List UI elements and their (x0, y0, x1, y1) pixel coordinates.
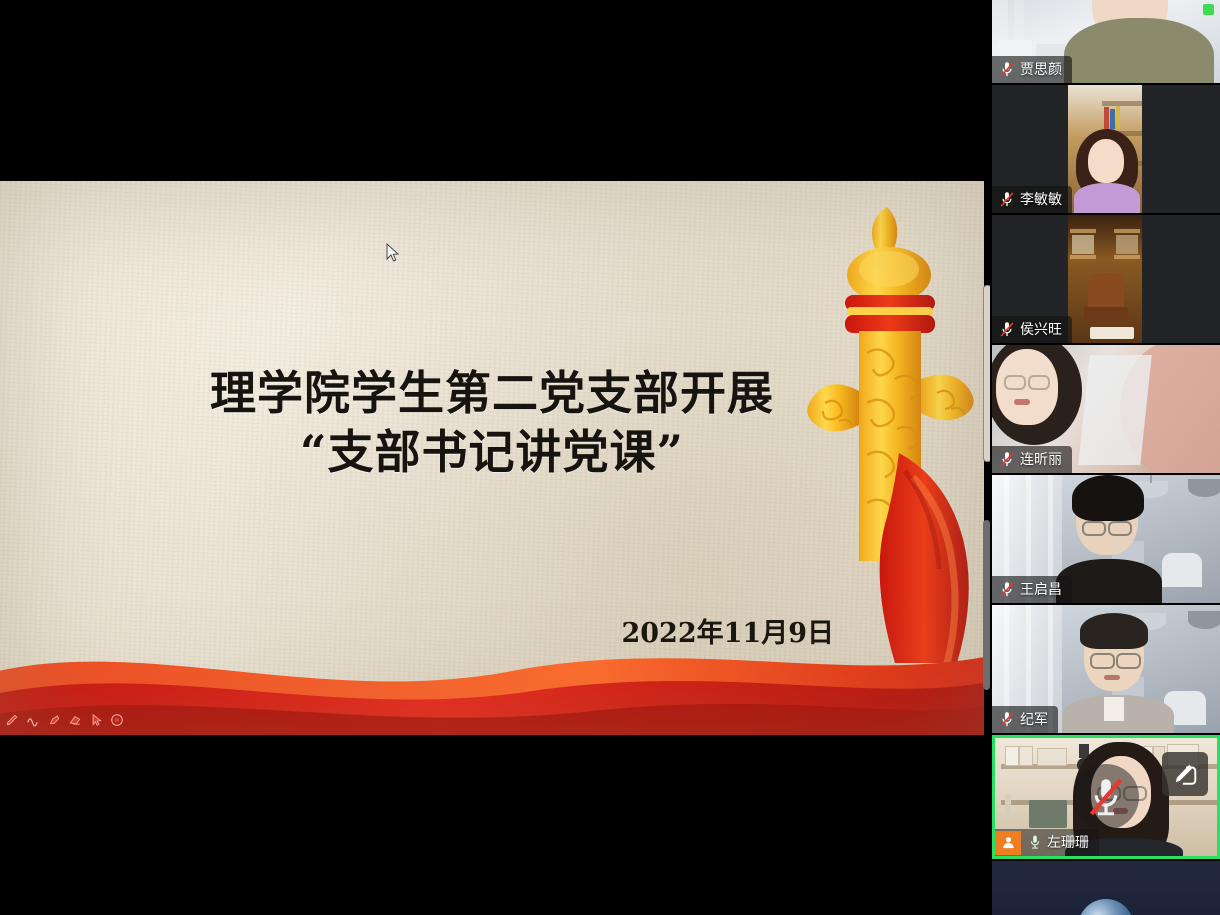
pen-tool-icon[interactable] (4, 712, 19, 727)
participant-namebar: 左珊珊 (995, 829, 1099, 856)
content-scrollbar-thumb-lower[interactable] (983, 520, 990, 690)
microphone-icon (1028, 834, 1042, 850)
participant-tile[interactable] (992, 861, 1220, 915)
ppt-annotation-toolbar[interactable] (4, 712, 124, 727)
slide-title: 理学院学生第二党支部开展 “支部书记讲党课” (0, 364, 984, 482)
participant-name: 贾思颜 (1020, 59, 1062, 79)
participant-namebar: 李敏敏 (992, 186, 1072, 213)
participant-tile[interactable]: 侯兴旺 (992, 215, 1220, 343)
participant-name: 纪军 (1020, 709, 1048, 729)
microphone-muted-icon (999, 191, 1015, 208)
highlighter-tool-icon[interactable] (46, 712, 61, 727)
laser-pointer-tool-icon[interactable] (109, 712, 124, 727)
participant-namebar: 贾思颜 (992, 56, 1072, 83)
muted-overlay-icon (1073, 764, 1139, 830)
participant-filmstrip[interactable]: 贾思颜 (992, 0, 1220, 915)
microphone-muted-icon (999, 581, 1015, 598)
participant-namebar: 王启昌 (992, 576, 1072, 603)
red-ribbon-decoration (0, 611, 984, 735)
participant-name: 左珊珊 (1047, 832, 1089, 852)
participant-video (992, 861, 1220, 915)
participant-tile[interactable]: 贾思颜 (992, 0, 1220, 83)
participant-tile-active-speaker[interactable]: 左珊珊 (992, 735, 1220, 859)
slide-title-line1: 理学院学生第二党支部开展 (0, 364, 984, 423)
shared-content-region[interactable]: 理学院学生第二党支部开展 “支部书记讲党课” 2022年11月9日 (0, 0, 990, 915)
host-badge-icon (995, 831, 1021, 855)
microphone-muted-icon (999, 321, 1015, 338)
meeting-screen: 理学院学生第二党支部开展 “支部书记讲党课” 2022年11月9日 (0, 0, 1220, 915)
participant-namebar: 连昕丽 (992, 446, 1072, 473)
slide-date: 2022年11月9日 (621, 611, 834, 650)
participant-tile[interactable]: 纪军 (992, 605, 1220, 733)
participant-name: 王启昌 (1020, 579, 1062, 599)
participant-tile[interactable]: 王启昌 (992, 475, 1220, 603)
slide-title-line2: “支部书记讲党课” (0, 423, 984, 482)
content-scrollbar-thumb-upper[interactable] (983, 285, 990, 462)
participant-tile[interactable]: 连昕丽 (992, 345, 1220, 473)
participant-name: 李敏敏 (1020, 189, 1062, 209)
participant-name: 连昕丽 (1020, 449, 1062, 469)
participant-namebar: 纪军 (992, 706, 1058, 733)
participant-tile[interactable]: 李敏敏 (992, 85, 1220, 213)
participant-name: 侯兴旺 (1020, 319, 1062, 339)
mouse-cursor (386, 243, 400, 263)
shared-slide[interactable]: 理学院学生第二党支部开展 “支部书记讲党课” 2022年11月9日 (0, 181, 984, 735)
ink-squiggle-tool-icon[interactable] (25, 712, 40, 727)
annotate-button[interactable] (1162, 752, 1208, 796)
participant-namebar: 侯兴旺 (992, 316, 1072, 343)
microphone-muted-icon (999, 451, 1015, 468)
microphone-muted-icon (999, 711, 1015, 728)
microphone-muted-icon (999, 61, 1015, 78)
pointer-tool-icon[interactable] (88, 712, 103, 727)
eraser-tool-icon[interactable] (67, 712, 82, 727)
